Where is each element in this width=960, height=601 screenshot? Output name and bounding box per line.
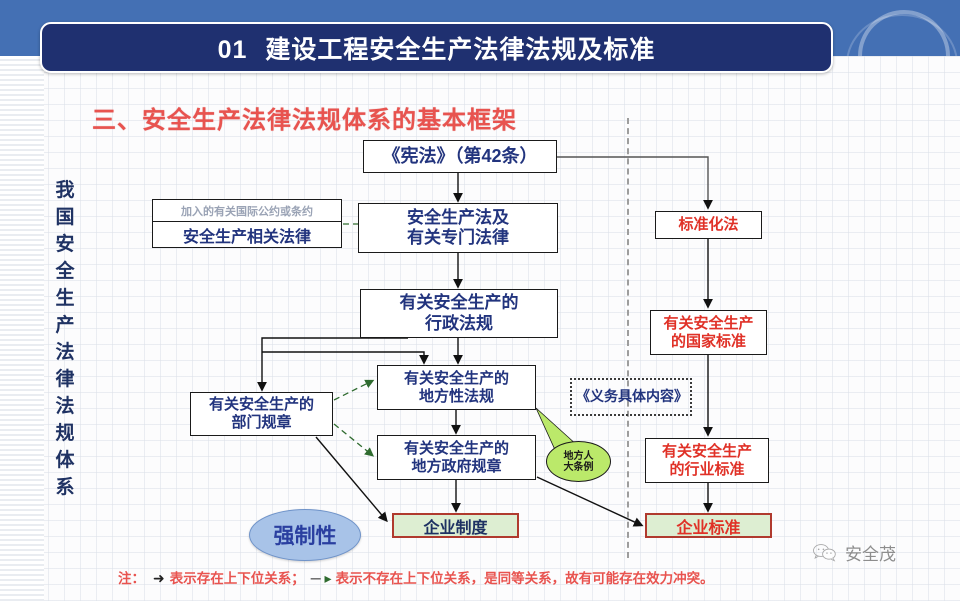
side-label-c3: 安 <box>48 232 82 259</box>
side-label-c1: 我 <box>48 178 82 205</box>
slide-title-bar: 01建设工程安全生产法律法规及标准 <box>40 22 833 73</box>
box-industry-standards[interactable]: 有关安全生产 的行业标准 <box>645 438 769 483</box>
crescent-arc-icon <box>858 10 950 56</box>
solid-arrow-icon: ➜ <box>153 570 165 587</box>
side-label-c5: 生 <box>48 286 82 313</box>
box-safety-production-law[interactable]: 安全生产法及 有关专门法律 <box>358 203 558 253</box>
box-administrative-regulations-line1: 有关安全生产的 <box>400 293 519 313</box>
vertical-dashed-divider <box>627 118 629 558</box>
box-industry-standards-line1: 有关安全生产 <box>662 443 752 461</box>
footnote-label: 注： <box>118 571 145 586</box>
box-constitution[interactable]: 《宪法》（第42条） <box>363 140 557 173</box>
footnote: 注：➜表示存在上下位关系；─ ▸表示不存在上下位关系，是同等关系，故有可能存在效… <box>118 567 714 587</box>
ellipse-mandatory-label: 强制性 <box>274 520 337 550</box>
callout-local-line2: 大条例 <box>564 462 594 473</box>
side-label-c12: 系 <box>48 475 82 502</box>
box-industry-standards-line2: 的行业标准 <box>669 461 744 479</box>
watermark: 安全茂 <box>812 540 896 565</box>
box-local-government-rules[interactable]: 有关安全生产的 地方政府规章 <box>377 435 536 480</box>
ellipse-mandatory[interactable]: 强制性 <box>249 509 361 561</box>
box-national-standards-line1: 有关安全生产 <box>663 315 753 333</box>
side-label-c10: 规 <box>48 421 82 448</box>
box-standardization-law[interactable]: 标准化法 <box>655 211 762 239</box>
box-safety-production-law-line2: 有关专门法律 <box>407 228 509 248</box>
slide-number: 01 <box>218 36 248 64</box>
box-administrative-regulations[interactable]: 有关安全生产的 行政法规 <box>360 289 558 338</box>
side-label-c9: 法 <box>48 394 82 421</box>
wechat-icon <box>812 543 838 562</box>
box-enterprise-system-label: 企业制度 <box>423 514 487 538</box>
slide-canvas: 01建设工程安全生产法律法规及标准 三、安全生产法律法规体系的基本框架 我 国 … <box>0 0 960 601</box>
footnote-part1: 表示存在上下位关系； <box>170 571 305 586</box>
box-local-regulations-line2: 地方性法规 <box>419 388 494 406</box>
side-label-c11: 体 <box>48 448 82 475</box>
dashed-arrow-icon: ─ ▸ <box>311 570 332 587</box>
footnote-part2: 表示不存在上下位关系，是同等关系，故有可能存在效力冲突。 <box>336 571 714 586</box>
side-label-c6: 产 <box>48 313 82 340</box>
callout-local-line1: 地方人 <box>564 451 594 462</box>
box-department-rules-line1: 有关安全生产的 <box>209 396 314 414</box>
annotation-text: 《义务具体内容》 <box>572 386 692 406</box>
box-local-government-rules-line1: 有关安全生产的 <box>404 440 509 458</box>
box-related-laws[interactable]: 加入的有关国际公约或条约 安全生产相关法律 <box>152 199 342 248</box>
box-enterprise-standards[interactable]: 企业标准 <box>645 513 772 538</box>
box-department-rules[interactable]: 有关安全生产的 部门规章 <box>190 392 333 436</box>
box-safety-production-law-line1: 安全生产法及 <box>407 208 509 228</box>
vertical-side-label: 我 国 安 全 生 产 法 律 法 规 体 系 <box>48 178 82 502</box>
box-administrative-regulations-line2: 行政法规 <box>425 314 493 334</box>
box-related-laws-note: 加入的有关国际公约或条约 <box>153 200 341 222</box>
side-label-c2: 国 <box>48 205 82 232</box>
box-enterprise-system[interactable]: 企业制度 <box>392 513 519 538</box>
box-national-standards[interactable]: 有关安全生产 的国家标准 <box>650 310 767 355</box>
page-title: 建设工程安全生产法律法规及标准 <box>265 36 655 64</box>
watermark-text: 安全茂 <box>845 540 896 565</box>
box-related-laws-label: 安全生产相关法律 <box>153 222 341 247</box>
side-label-c8: 律 <box>48 367 82 394</box>
box-national-standards-line2: 的国家标准 <box>671 333 746 351</box>
box-local-regulations[interactable]: 有关安全生产的 地方性法规 <box>377 365 536 410</box>
left-stripe-decoration <box>0 56 44 601</box>
box-local-government-rules-line2: 地方政府规章 <box>411 458 501 476</box>
side-label-c7: 法 <box>48 340 82 367</box>
box-constitution-label: 《宪法》（第42条） <box>382 146 537 168</box>
left-blue-corner <box>0 0 10 56</box>
box-standardization-law-label: 标准化法 <box>678 216 738 234</box>
box-department-rules-line2: 部门规章 <box>231 414 291 432</box>
box-local-regulations-line1: 有关安全生产的 <box>404 370 509 388</box>
box-enterprise-standards-label: 企业标准 <box>676 514 740 538</box>
callout-local-people-congress[interactable]: 地方人 大条例 <box>546 441 611 482</box>
section-subtitle: 三、安全生产法律法规体系的基本框架 <box>92 100 517 135</box>
side-label-c4: 全 <box>48 259 82 286</box>
